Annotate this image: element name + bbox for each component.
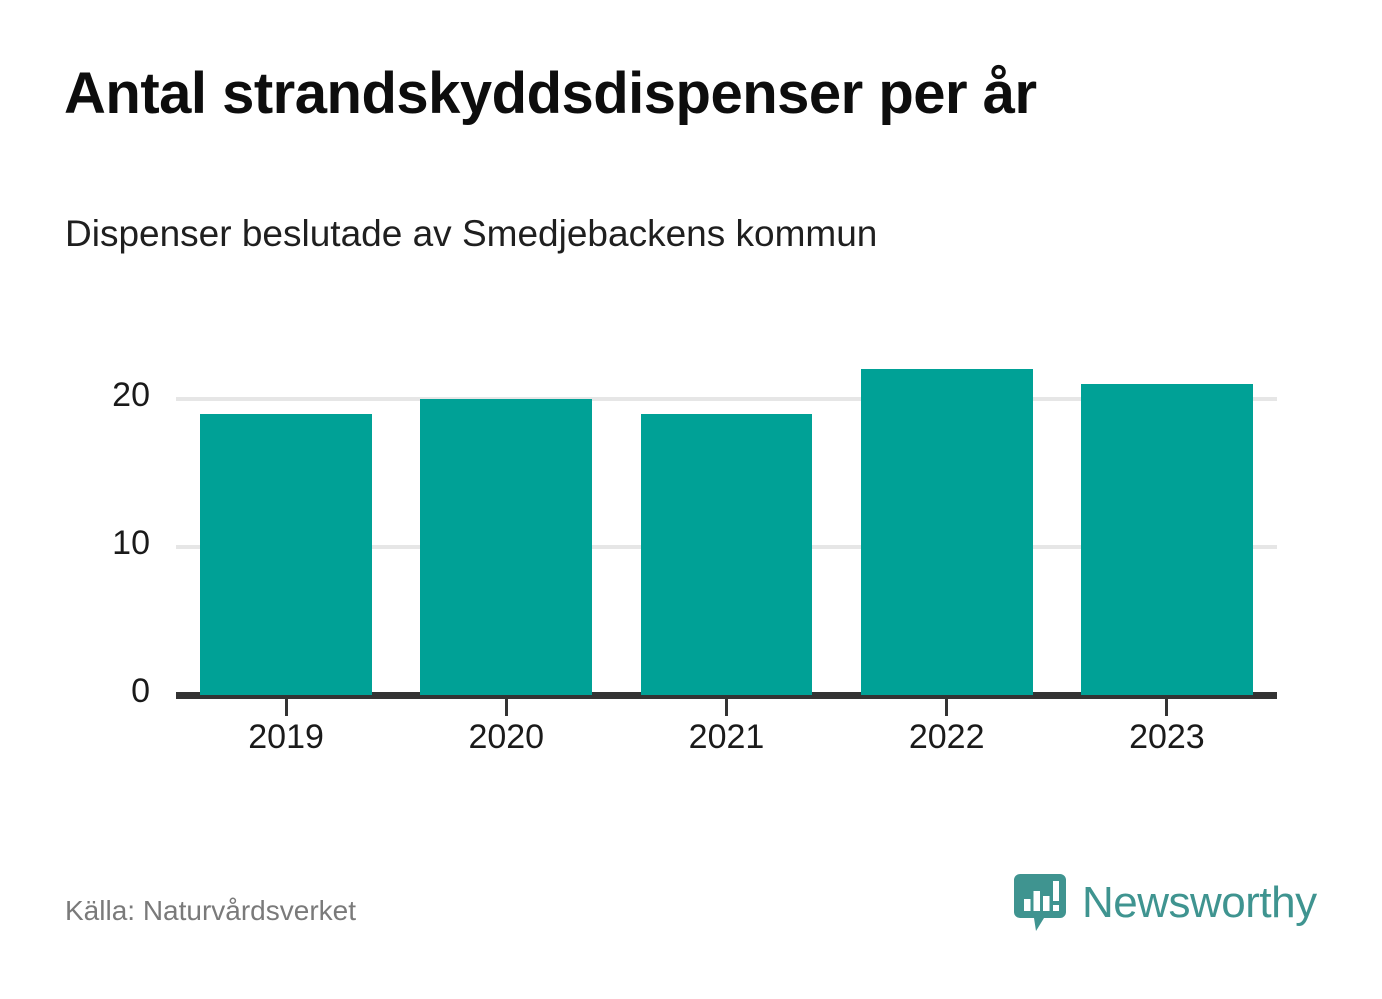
chart-page: Antal strandskyddsdispenser per år Dispe… bbox=[0, 0, 1382, 999]
y-axis-tick-label: 20 bbox=[112, 376, 150, 415]
newsworthy-logo: Newsworthy bbox=[1012, 872, 1317, 934]
x-axis-tick-label: 2023 bbox=[1057, 718, 1277, 757]
x-axis-tick-mark bbox=[725, 699, 728, 716]
x-axis-tick-mark bbox=[945, 699, 948, 716]
x-axis-tick-label: 2022 bbox=[837, 718, 1057, 757]
y-axis-tick-label: 0 bbox=[131, 672, 150, 711]
x-axis-tick-label: 2021 bbox=[616, 718, 836, 757]
x-axis-tick-label: 2020 bbox=[396, 718, 616, 757]
bar-chart-plot: 0102020192020202120222023 bbox=[0, 0, 1382, 999]
bar-2020[interactable] bbox=[420, 399, 592, 695]
logo-wordmark: Newsworthy bbox=[1082, 878, 1317, 928]
bar-2021[interactable] bbox=[641, 414, 813, 695]
source-note: Källa: Naturvårdsverket bbox=[65, 895, 356, 927]
x-axis-tick-label: 2019 bbox=[176, 718, 396, 757]
bar-2023[interactable] bbox=[1081, 384, 1253, 695]
bar-2022[interactable] bbox=[861, 369, 1033, 695]
y-axis-tick-label: 10 bbox=[112, 524, 150, 563]
x-axis-tick-mark bbox=[285, 699, 288, 716]
x-axis-tick-mark bbox=[1165, 699, 1168, 716]
x-axis-tick-mark bbox=[505, 699, 508, 716]
bar-2019[interactable] bbox=[200, 414, 372, 695]
speech-bubble-bar-chart-icon bbox=[1012, 872, 1068, 934]
